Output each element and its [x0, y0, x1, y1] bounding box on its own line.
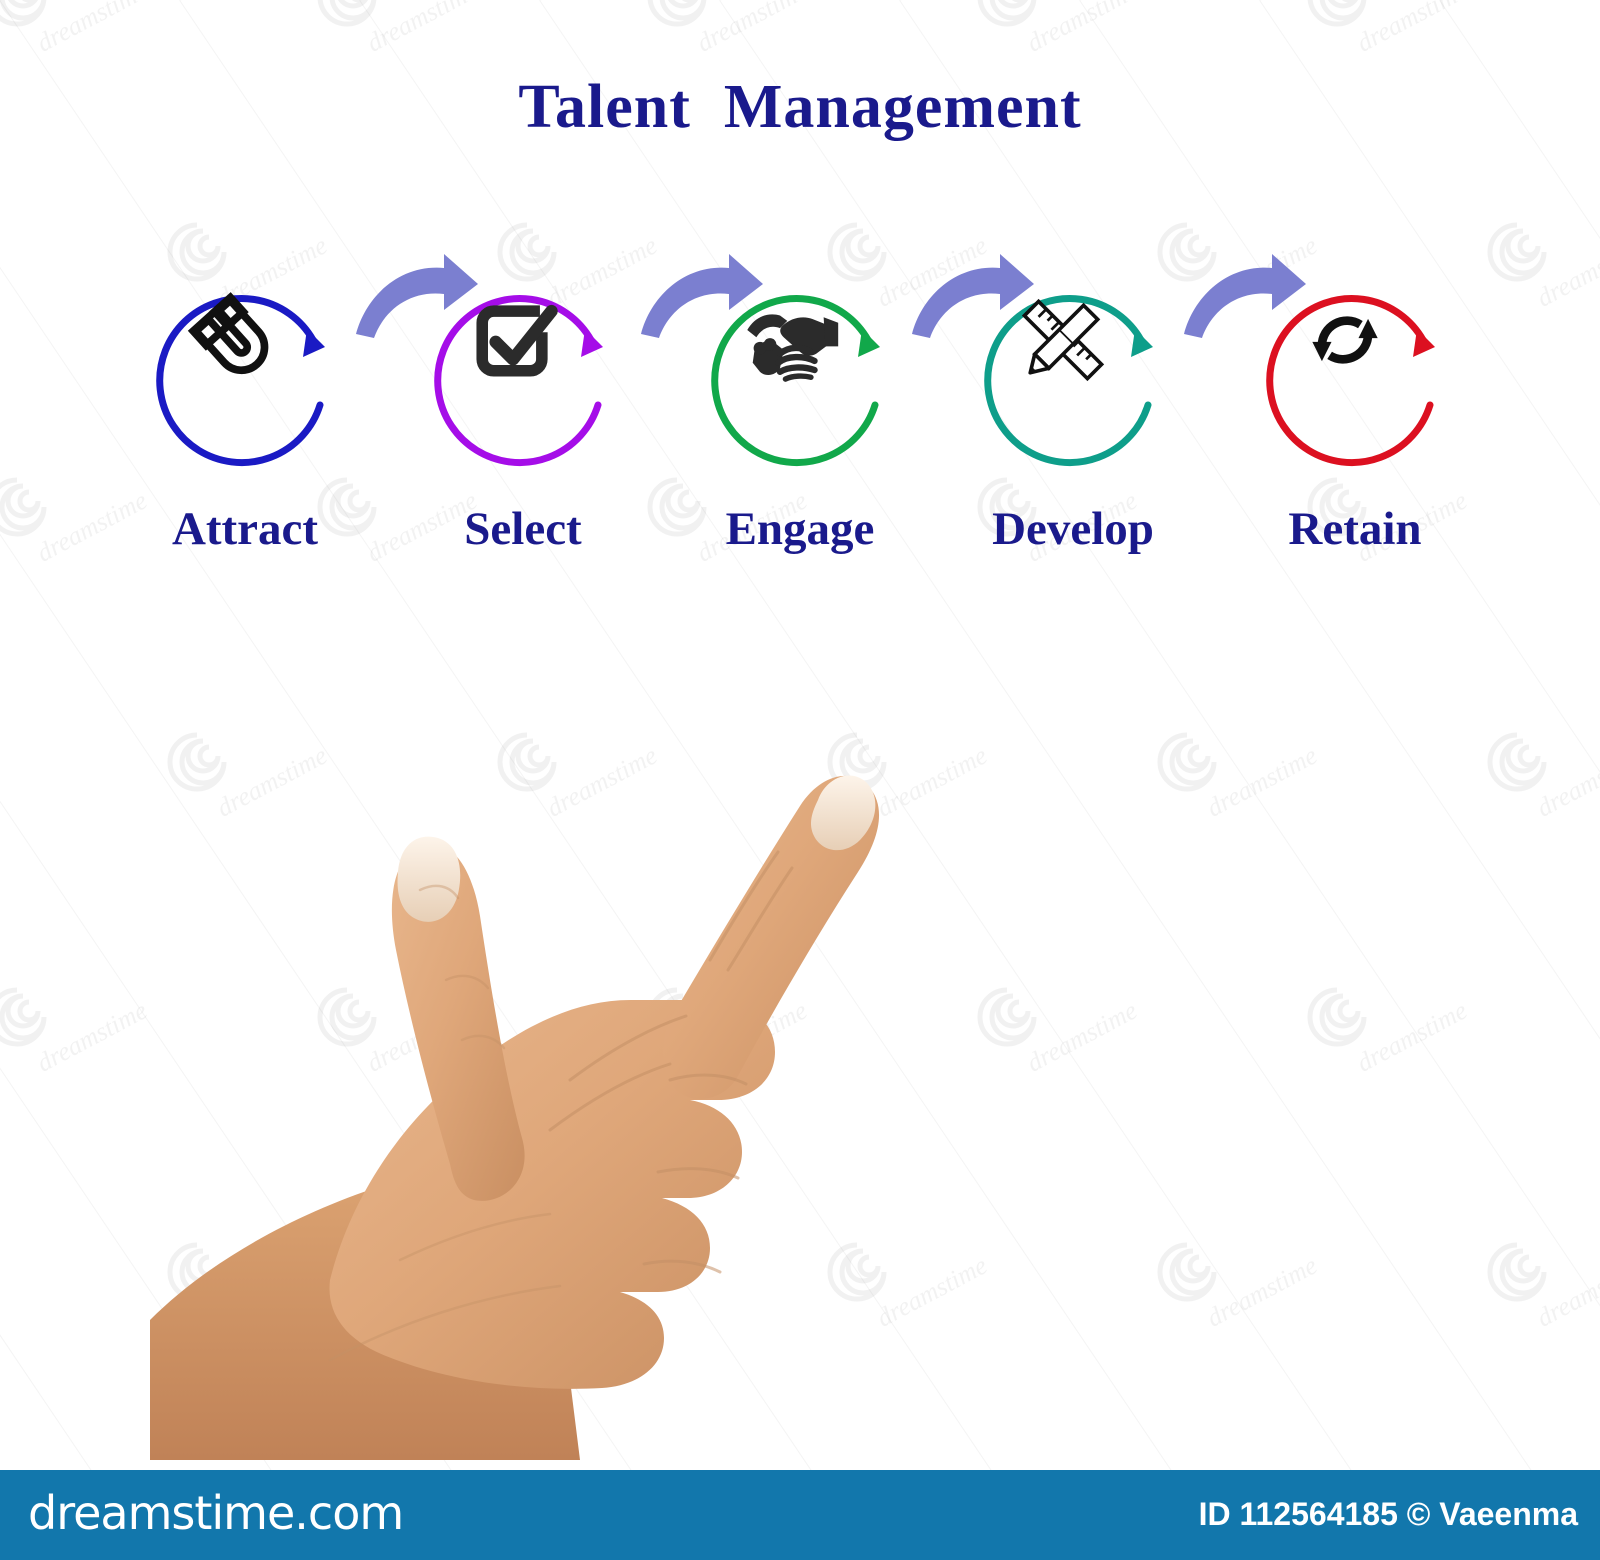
process-diagram: Attract Select — [0, 240, 1600, 590]
magnet-icon — [185, 290, 285, 390]
process-step-retain[interactable]: Retain — [1245, 240, 1465, 580]
image-canvas: dreamstimedreamstimedreamstimedreamstime… — [0, 0, 1600, 1560]
step-label-retain: Retain — [1215, 502, 1495, 556]
step-label-attract: Attract — [105, 502, 385, 556]
footer-bar: dreamstime.com ID 112564185 © Vaeenma — [0, 1470, 1600, 1560]
step-label-develop: Develop — [933, 502, 1213, 556]
pencil-ruler-icon — [1013, 290, 1113, 390]
checkbox-check-icon — [463, 290, 563, 390]
step-label-engage: Engage — [660, 502, 940, 556]
image-credit: ID 112564185 © Vaeenma — [1199, 1496, 1578, 1533]
pointing-hand-photo — [150, 560, 890, 1460]
handshake-icon — [740, 290, 840, 390]
process-step-develop[interactable]: Develop — [963, 240, 1183, 580]
refresh-cycle-icon — [1295, 290, 1395, 390]
process-step-attract[interactable]: Attract — [135, 240, 355, 580]
process-step-engage[interactable]: Engage — [690, 240, 910, 580]
process-step-select[interactable]: Select — [413, 240, 633, 580]
page-title: Talent Management — [0, 72, 1600, 143]
dreamstime-logo[interactable]: dreamstime.com — [28, 1486, 403, 1540]
step-label-select: Select — [383, 502, 663, 556]
